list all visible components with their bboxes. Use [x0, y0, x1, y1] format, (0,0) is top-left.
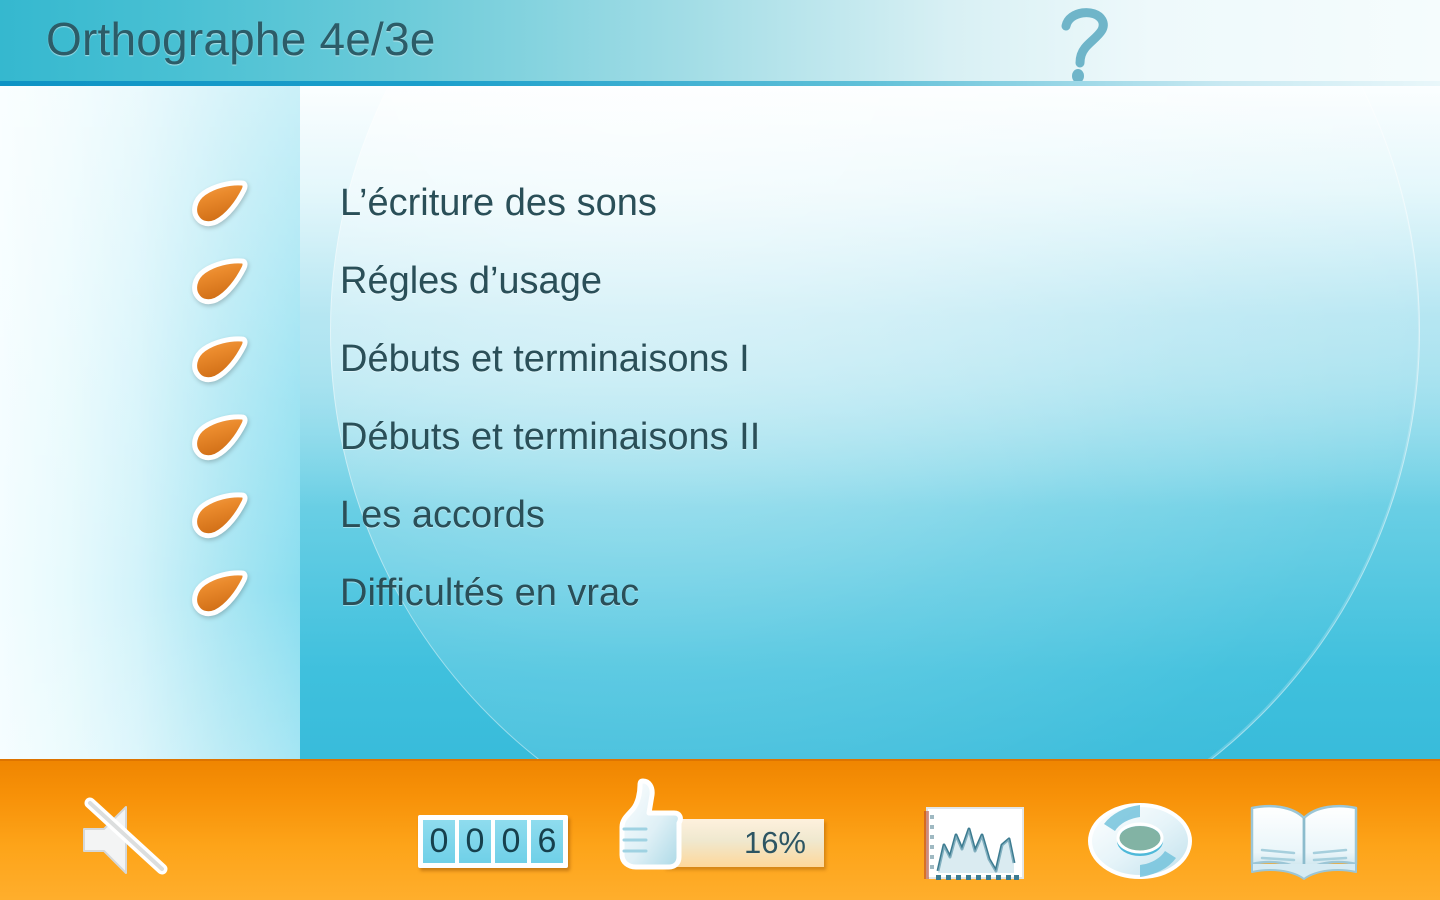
score-digit: 6	[529, 818, 565, 865]
page-title: Orthographe 4e/3e	[46, 12, 436, 66]
progress-indicator[interactable]: 16%	[612, 777, 832, 882]
menu-item-label: Débuts et terminaisons I	[340, 338, 750, 381]
orange-teardrop-bullet-icon	[190, 256, 252, 306]
question-mark-icon[interactable]	[1040, 0, 1130, 86]
menu-item-label: Régles d’usage	[340, 260, 602, 303]
menu-item-difficultes-en-vrac[interactable]: Difficultés en vrac	[190, 562, 639, 624]
menu-item-label: Difficultés en vrac	[340, 572, 639, 615]
menu-item-debuts-terminaisons-1[interactable]: Débuts et terminaisons I	[190, 328, 750, 390]
menu-item-label: Les accords	[340, 494, 545, 537]
orange-teardrop-bullet-icon	[190, 490, 252, 540]
score-digit: 0	[493, 818, 529, 865]
orange-teardrop-bullet-icon	[190, 178, 252, 228]
progress-percent-label: 16%	[744, 825, 824, 861]
menu-item-debuts-terminaisons-2[interactable]: Débuts et terminaisons II	[190, 406, 760, 468]
thumbs-up-icon	[612, 777, 684, 877]
menu-item-regles-dusage[interactable]: Régles d’usage	[190, 250, 602, 312]
lifebuoy-icon[interactable]	[1084, 800, 1196, 882]
score-counter[interactable]: 0 0 0 6	[418, 815, 568, 868]
app-header: Orthographe 4e/3e	[0, 0, 1440, 86]
progress-bar: 16%	[664, 819, 824, 867]
menu-item-label: L’écriture des sons	[340, 182, 657, 225]
score-digit: 0	[421, 818, 457, 865]
speaker-muted-icon[interactable]	[70, 795, 180, 885]
orange-teardrop-bullet-icon	[190, 412, 252, 462]
menu-item-label: Débuts et terminaisons II	[340, 416, 760, 459]
app-root: Orthographe 4e/3e	[0, 0, 1440, 900]
orange-teardrop-bullet-icon	[190, 334, 252, 384]
orange-teardrop-bullet-icon	[190, 568, 252, 618]
open-book-icon[interactable]	[1240, 800, 1368, 882]
score-digit: 0	[457, 818, 493, 865]
line-chart-icon[interactable]	[922, 805, 1030, 883]
menu-item-ecriture-des-sons[interactable]: L’écriture des sons	[190, 172, 657, 234]
menu-item-les-accords[interactable]: Les accords	[190, 484, 545, 546]
